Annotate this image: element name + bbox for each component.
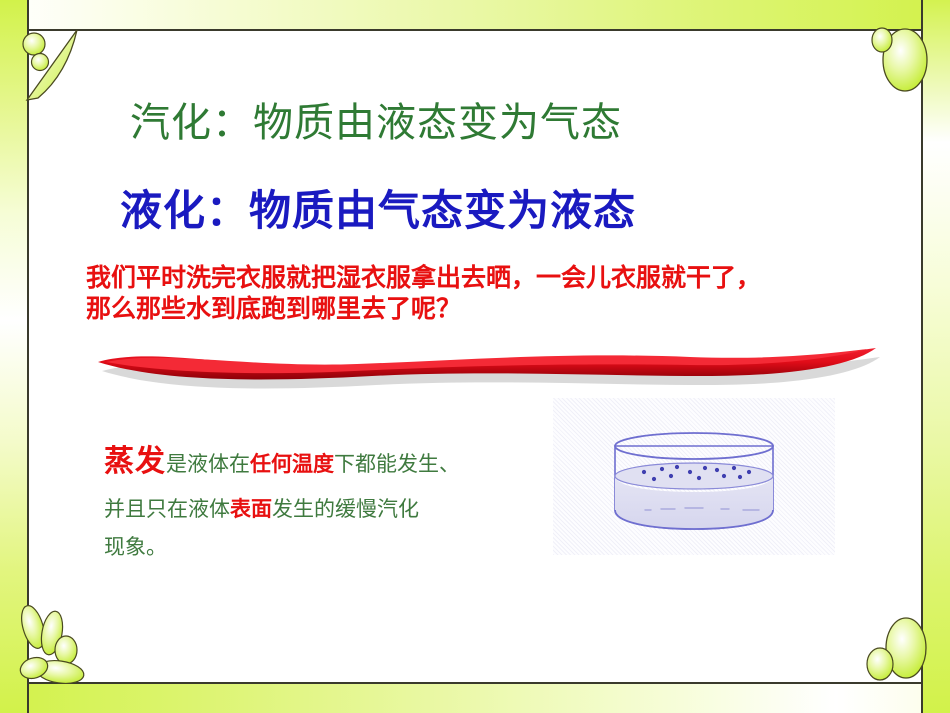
red-brush-swoosh-divider	[92, 338, 882, 390]
question-line-2: 那么那些水到底跑到哪里去了呢？	[86, 295, 886, 326]
title-vaporization: 汽化：物质由液态变为气态	[130, 90, 622, 148]
bud-bottom-right-icon	[850, 590, 950, 713]
frame-band-left	[0, 0, 29, 713]
definition-line2-a: 并且只在液体	[104, 497, 230, 521]
definition-line-3: 现象。	[104, 528, 544, 567]
evaporating-dish-figure	[553, 398, 835, 555]
question-paragraph: 我们平时洗完衣服就把湿衣服拿出去晒，一会儿衣服就干了， 那么那些水到底跑到哪里去…	[86, 264, 886, 325]
frame-band-top	[0, 0, 950, 31]
question-line-1: 我们平时洗完衣服就把湿衣服拿出去晒，一会儿衣服就干了，	[86, 264, 886, 295]
slide-canvas: 汽化：物质由液态变为气态 液化：物质由气态变为液态 我们平时洗完衣服就把湿衣服拿…	[0, 0, 950, 713]
frame-band-bottom	[0, 682, 950, 713]
title-liquefaction: 液化：物质由气态变为液态	[120, 177, 636, 238]
definition-line2-highlight: 表面	[230, 497, 272, 521]
bud-top-right-icon	[850, 0, 950, 120]
definition-paragraph: 蒸发是液体在任何温度下都能发生、 并且只在液体表面发生的缓慢汽化 现象。	[104, 434, 544, 567]
definition-line1-b: 下都能发生、	[334, 452, 460, 476]
evaporating-dish-icon	[553, 398, 835, 555]
flower-petals-bottom-left-icon	[0, 580, 130, 713]
definition-line2-b: 发生的缓慢汽化	[272, 497, 419, 521]
frame-band-right	[921, 0, 950, 713]
definition-line-1: 蒸发是液体在任何温度下都能发生、	[104, 434, 544, 490]
definition-line1-highlight: 任何温度	[250, 452, 334, 476]
leaf-sprig-top-left-icon	[0, 0, 120, 120]
definition-line1-a: 是液体在	[166, 452, 250, 476]
definition-line-2: 并且只在液体表面发生的缓慢汽化	[104, 490, 544, 529]
definition-keyword: 蒸发	[104, 445, 166, 478]
